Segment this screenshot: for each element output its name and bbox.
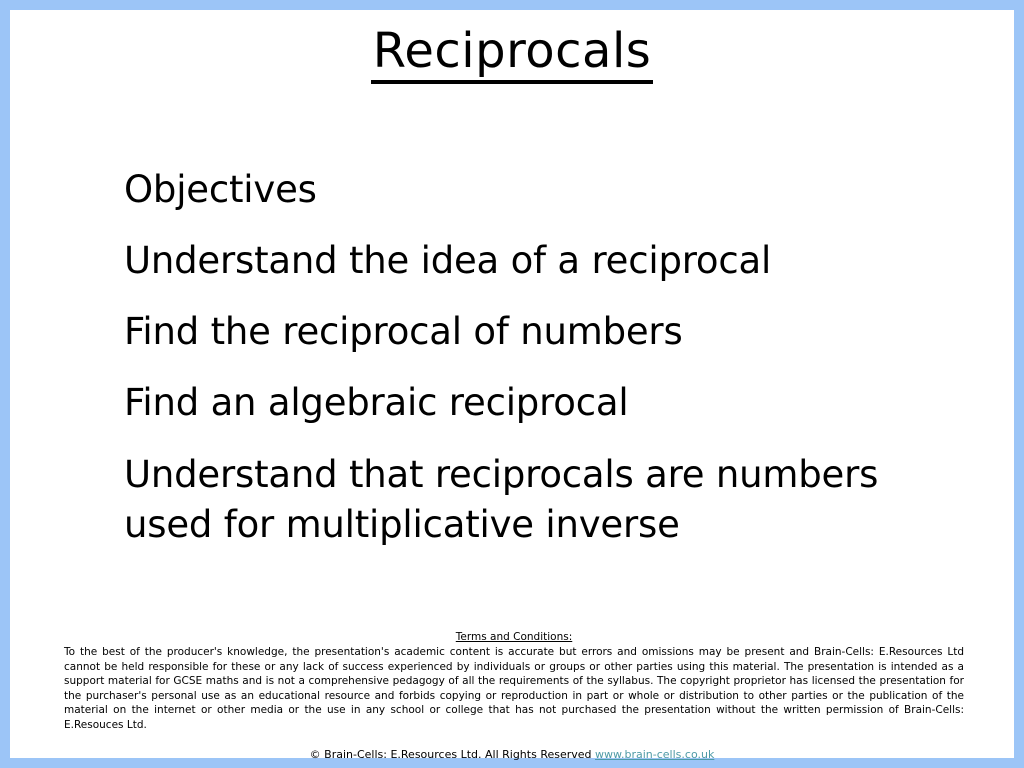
website-link[interactable]: www.brain-cells.co.uk (595, 748, 714, 761)
objective-item-3: Find an algebraic reciprocal (124, 367, 952, 438)
slide-canvas: Reciprocals Objectives Understand the id… (10, 10, 1014, 758)
objectives-list: Objectives Understand the idea of a reci… (124, 154, 952, 550)
objective-item-2: Find the reciprocal of numbers (124, 296, 952, 367)
footer: © Brain-Cells: E.Resources Ltd. All Righ… (12, 747, 1012, 762)
terms-heading: Terms and Conditions: (64, 630, 964, 644)
footer-copyright: © Brain-Cells: E.Resources Ltd. All Righ… (310, 748, 595, 761)
terms-and-conditions: Terms and Conditions: To the best of the… (64, 630, 964, 733)
terms-paragraph: To the best of the producer's knowledge,… (64, 645, 964, 733)
slide: Reciprocals Objectives Understand the id… (0, 0, 1024, 768)
objective-item-4: Understand that reciprocals are numbers … (124, 438, 952, 550)
page-title: Reciprocals (371, 26, 654, 84)
page-title-container: Reciprocals (12, 26, 1012, 84)
objectives-heading: Objectives (124, 154, 952, 225)
objective-item-1: Understand the idea of a reciprocal (124, 225, 952, 296)
